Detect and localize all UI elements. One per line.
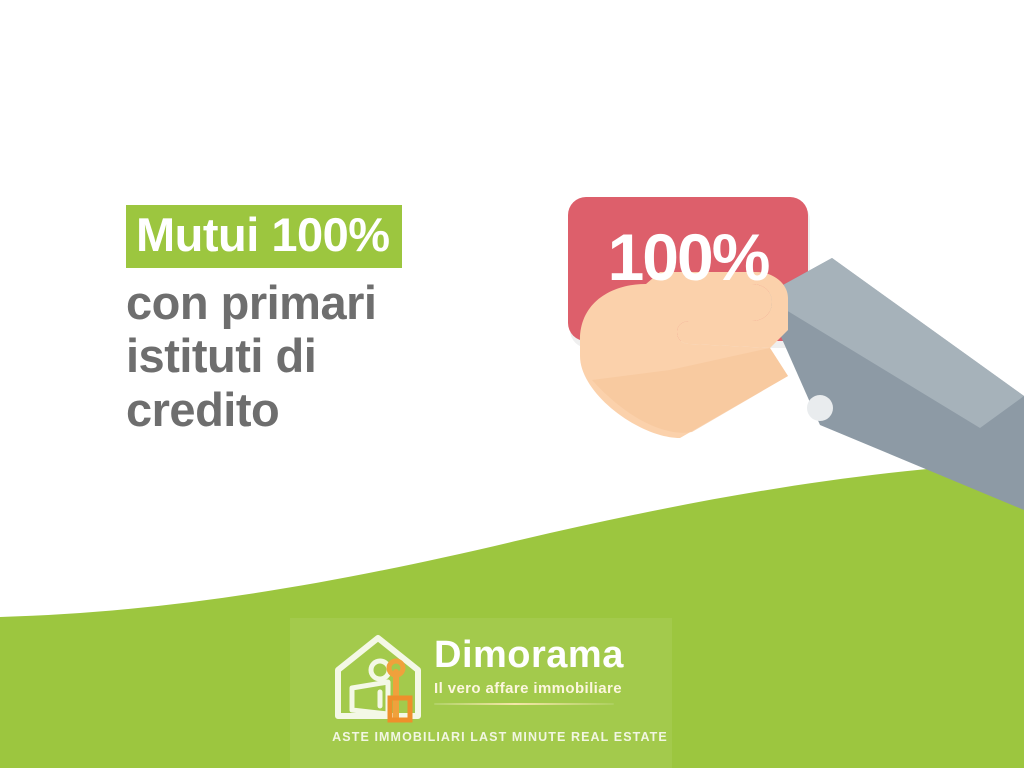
promo-banner: Mutui 100% con primari istituti di credi… [0, 0, 1024, 768]
brand-logo[interactable]: Dimorama Il vero affare immobiliare ASTE… [330, 630, 670, 750]
headline-line-3: credito [126, 383, 506, 437]
logo-tagline: Il vero affare immobiliare [434, 681, 674, 696]
logo-caption: ASTE IMMOBILIARI LAST MINUTE REAL ESTATE [330, 730, 670, 744]
headline-lines: con primari istituti di credito [126, 276, 506, 437]
headline-block: Mutui 100% con primari istituti di credi… [126, 205, 506, 437]
logo-wordmark-block: Dimorama Il vero affare immobiliare [434, 636, 674, 705]
hand-card-illustration: 100% [520, 180, 1024, 580]
headline-highlight: Mutui 100% [126, 205, 402, 268]
illustration-svg [520, 180, 1024, 580]
headline-line-1: con primari [126, 276, 506, 330]
headline-line-2: istituti di [126, 329, 506, 383]
cuff-button-icon [807, 395, 833, 421]
house-key-icon [330, 632, 426, 724]
logo-underline-rule [434, 703, 614, 705]
logo-name: Dimorama [434, 636, 674, 674]
